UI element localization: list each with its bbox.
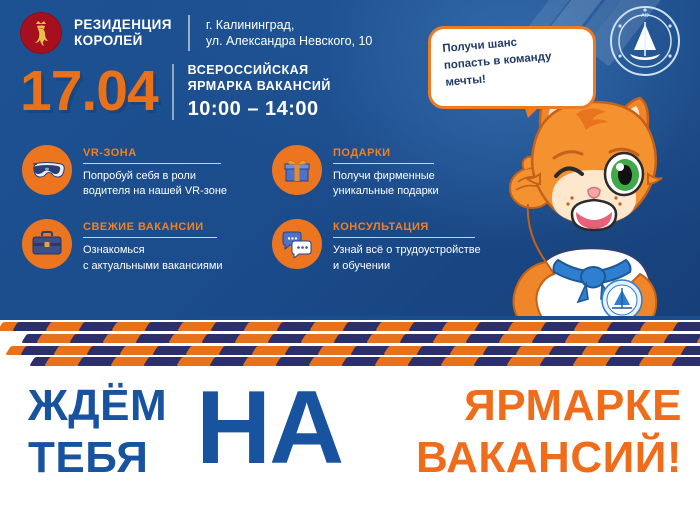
speech-bubble: Получи шанс попасть в команду мечты!: [428, 26, 596, 109]
feature-description: Получи фирменные уникальные подарки: [333, 169, 439, 199]
speech-bubbles-icon: [272, 219, 322, 269]
venue-address: г. Калининград, ул. Александра Невского,…: [206, 17, 373, 50]
winking-cat-mascot: [484, 78, 700, 318]
feature-text: СВЕЖИЕ ВАКАНСИИ Ознакомься с актуальными…: [83, 219, 223, 273]
venue-header: РЕЗИДЕНЦИЯ КОРОЛЕЙ г. Калининград, ул. А…: [20, 12, 372, 54]
feature-desc-line-1: Ознакомься: [83, 243, 223, 258]
vr-headset-icon: [22, 145, 72, 195]
event-title-line-1: ВСЕРОССИЙСКАЯ: [188, 62, 331, 78]
feature-heading: СВЕЖИЕ ВАКАНСИИ: [83, 221, 223, 233]
brand-line-1: РЕЗИДЕНЦИЯ: [74, 17, 172, 33]
tire-tread-divider: [0, 316, 700, 372]
feature-text: ПОДАРКИ Получи фирменные уникальные пода…: [333, 145, 439, 199]
feature-item: КОНСУЛЬТАЦИЯ Узнай всё о трудоустройстве…: [272, 219, 492, 273]
feature-underline: [83, 237, 217, 238]
svg-text:АО: АО: [641, 13, 650, 19]
event-time: 10:00 – 14:00: [188, 98, 331, 121]
feature-desc-line-2: водителя на нашей VR-зоне: [83, 184, 227, 199]
headline-right-line-1: ЯРМАРКЕ: [464, 384, 682, 428]
feature-desc-line-1: Получи фирменные: [333, 169, 439, 184]
event-date-row: 17.04 ВСЕРОССИЙСКАЯ ЯРМАРКА ВАКАНСИЙ 10:…: [20, 62, 331, 121]
feature-underline: [333, 163, 434, 164]
date-divider: [172, 64, 174, 120]
feature-desc-line-2: с актуальными вакансиями: [83, 259, 223, 274]
feature-heading: VR-ЗОНА: [83, 147, 227, 159]
header-divider: [188, 15, 190, 51]
feature-underline: [333, 237, 475, 238]
headline-section: ЖДЁМ ТЕБЯ НА ЯРМАРКЕ ВАКАНСИЙ!: [0, 372, 700, 515]
speech-bubble-text: Получи шанс попасть в команду мечты!: [442, 29, 582, 92]
address-line-2: ул. Александра Невского, 10: [206, 33, 373, 49]
gift-box-icon: [272, 145, 322, 195]
feature-desc-line-1: Попробуй себя в роли: [83, 169, 227, 184]
feature-description: Узнай всё о трудоустройстве и обучении: [333, 243, 481, 273]
feature-desc-line-1: Узнай всё о трудоустройстве: [333, 243, 481, 258]
tread-top-edge: [0, 316, 700, 320]
feature-item: ПОДАРКИ Получи фирменные уникальные пода…: [272, 145, 492, 199]
venue-brand: РЕЗИДЕНЦИЯ КОРОЛЕЙ: [74, 17, 172, 50]
brand-line-2: КОРОЛЕЙ: [74, 33, 172, 49]
feature-desc-line-2: и обучении: [333, 259, 481, 274]
feature-text: КОНСУЛЬТАЦИЯ Узнай всё о трудоустройстве…: [333, 219, 481, 273]
feature-item: СВЕЖИЕ ВАКАНСИИ Ознакомься с актуальными…: [22, 219, 272, 273]
feature-description: Попробуй себя в роли водителя на нашей V…: [83, 169, 227, 199]
briefcase-icon: [22, 219, 72, 269]
event-title-line-2: ЯРМАРКА ВАКАНСИЙ: [188, 78, 331, 94]
royal-crest-icon: [20, 12, 62, 54]
event-date: 17.04: [20, 63, 158, 120]
feature-text: VR-ЗОНА Попробуй себя в роли водителя на…: [83, 145, 227, 199]
feature-description: Ознакомься с актуальными вакансиями: [83, 243, 223, 273]
headline-left-line-2: ТЕБЯ: [28, 436, 148, 480]
event-info: ВСЕРОССИЙСКАЯ ЯРМАРКА ВАКАНСИЙ 10:00 – 1…: [188, 62, 331, 121]
feature-desc-line-2: уникальные подарки: [333, 184, 439, 199]
feature-item: VR-ЗОНА Попробуй себя в роли водителя на…: [22, 145, 272, 199]
feature-heading: КОНСУЛЬТАЦИЯ: [333, 221, 481, 233]
address-line-1: г. Калининград,: [206, 17, 373, 33]
features-grid: VR-ЗОНА Попробуй себя в роли водителя на…: [22, 145, 492, 274]
headline-right-line-2: ВАКАНСИЙ!: [416, 436, 682, 480]
feature-heading: ПОДАРКИ: [333, 147, 439, 159]
promotional-poster: РЕЗИДЕНЦИЯ КОРОЛЕЙ г. Калининград, ул. А…: [0, 0, 700, 515]
headline-center: НА: [196, 376, 342, 480]
company-logo: АО: [608, 4, 682, 78]
headline-left-line-1: ЖДЁМ: [28, 384, 167, 428]
feature-underline: [83, 163, 221, 164]
